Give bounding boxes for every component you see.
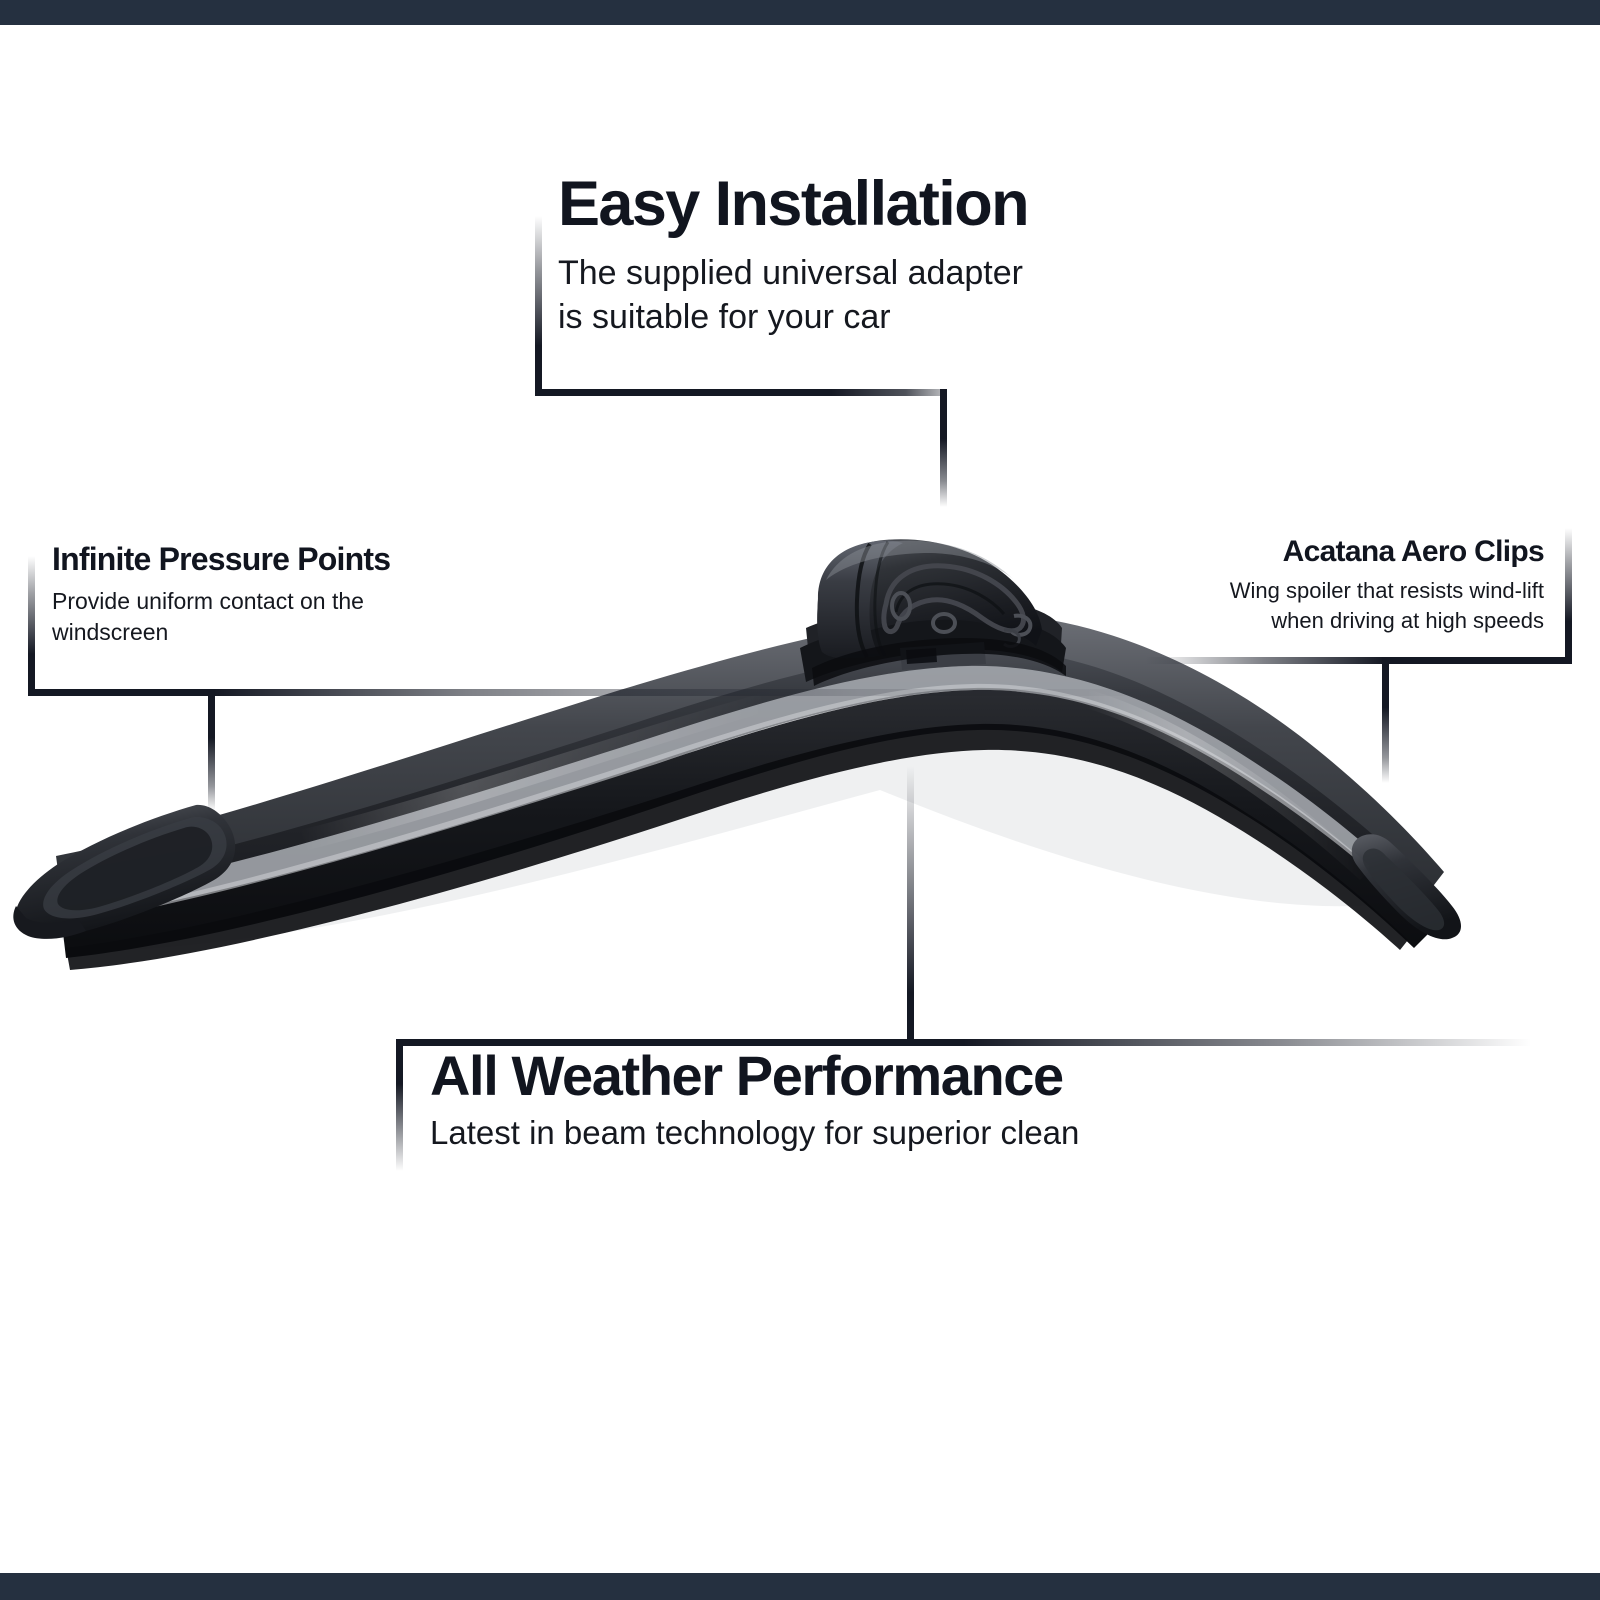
callout-left-title: Infinite Pressure Points (52, 542, 522, 577)
callout-line-right-bottom (1145, 657, 1572, 664)
callout-acatana-aero-clips: Acatana Aero Clips Wing spoiler that res… (1062, 535, 1544, 635)
callout-right-body-line2: when driving at high speeds (1062, 606, 1544, 636)
callout-top-title: Easy Installation (558, 172, 1178, 238)
callout-left-body-line2: windscreen (52, 617, 522, 648)
callout-top-body-line2: is suitable for your car (558, 295, 1178, 340)
callout-easy-installation: Easy Installation The supplied universal… (558, 172, 1178, 340)
callout-connector-right (1382, 657, 1389, 783)
callout-line-top-bottom (535, 389, 947, 396)
callout-right-body-line1: Wing spoiler that resists wind-lift (1062, 576, 1544, 606)
callout-right-body: Wing spoiler that resists wind-lift when… (1062, 576, 1544, 635)
callout-all-weather-performance: All Weather Performance Latest in beam t… (430, 1046, 1430, 1154)
callout-bottom-body-line1: Latest in beam technology for superior c… (430, 1112, 1430, 1153)
callout-connector-bottom (907, 766, 914, 1042)
callout-right-title: Acatana Aero Clips (1062, 535, 1544, 568)
callout-top-body: The supplied universal adapter is suitab… (558, 251, 1178, 341)
callout-left-body: Provide uniform contact on the windscree… (52, 586, 522, 647)
callout-infinite-pressure-points: Infinite Pressure Points Provide uniform… (52, 542, 522, 647)
callout-top-body-line1: The supplied universal adapter (558, 251, 1178, 296)
callout-connector-top (940, 389, 947, 507)
infographic-canvas: Easy Installation The supplied universal… (0, 0, 1600, 1600)
callout-left-body-line1: Provide uniform contact on the (52, 586, 522, 617)
callout-line-right-edge (1565, 528, 1572, 661)
callout-bottom-title: All Weather Performance (430, 1046, 1430, 1106)
callout-connector-left (208, 689, 215, 811)
callout-line-left-edge (28, 556, 35, 696)
callout-line-top-edge (535, 216, 542, 396)
callout-line-left-bottom (28, 689, 1183, 696)
callout-bottom-body: Latest in beam technology for superior c… (430, 1112, 1430, 1153)
callout-line-bottom-edge (396, 1039, 403, 1171)
